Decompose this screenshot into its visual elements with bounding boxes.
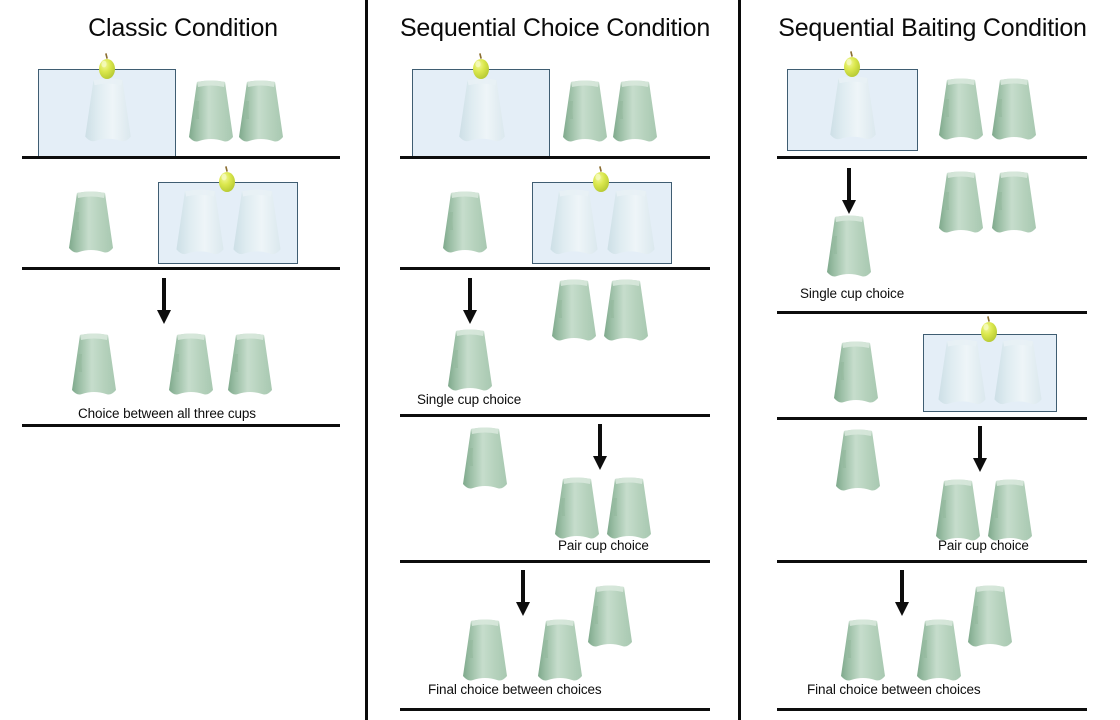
stage-divider — [777, 708, 1087, 711]
stage-divider — [400, 267, 710, 270]
stage-seqchoice-single-cup-choice: Single cup choice — [372, 274, 738, 409]
cup-icon — [601, 188, 661, 262]
cup-icon — [582, 584, 638, 654]
cup-icon — [222, 332, 278, 402]
cup-icon — [932, 338, 992, 412]
grape-icon — [215, 166, 239, 196]
experimental-design-diagram: Classic Condition — [0, 0, 1120, 720]
stage-classic-bait-pair — [0, 166, 366, 266]
cup-icon — [601, 476, 657, 546]
cup-icon — [457, 618, 513, 688]
grape-icon — [589, 166, 613, 196]
grape-icon — [977, 316, 1001, 346]
stage-caption: Choice between all three cups — [78, 406, 256, 421]
stage-divider — [777, 311, 1087, 314]
cup-icon — [163, 332, 219, 402]
cup-icon — [911, 618, 967, 688]
cup-icon — [549, 476, 605, 546]
cup-icon — [63, 190, 119, 260]
cup-icon — [607, 79, 663, 149]
cup-icon — [986, 170, 1042, 240]
cup-icon — [986, 77, 1042, 147]
stage-seqbait-pair-cup-choice: Pair cup choice — [745, 422, 1120, 557]
stage-caption: Final choice between choices — [428, 682, 602, 697]
cup-icon — [598, 278, 654, 348]
cup-icon — [66, 332, 122, 402]
grape-icon — [469, 53, 493, 83]
stage-divider — [400, 560, 710, 563]
stage-divider — [400, 708, 710, 711]
cup-icon — [442, 328, 498, 398]
cup-icon — [437, 190, 493, 260]
cup-icon — [824, 75, 882, 147]
cup-icon — [933, 77, 989, 147]
column-title-sequential-choice: Sequential Choice Condition — [372, 14, 738, 43]
stage-seqbait-single-cup-choice: Single cup choice — [745, 164, 1120, 304]
down-arrow-icon — [155, 278, 173, 326]
stage-seqbait-final-choice: Final choice between choices — [745, 566, 1120, 706]
stage-classic-final-choice: Choice between all three cups — [0, 276, 366, 421]
cup-icon — [227, 188, 287, 262]
cup-icon — [183, 79, 239, 149]
condition-column-sequential-baiting: Sequential Baiting Condition — [745, 0, 1120, 720]
stage-classic-bait-single — [0, 55, 366, 155]
cup-icon — [557, 79, 613, 149]
stage-divider — [22, 156, 340, 159]
cup-icon — [830, 428, 886, 498]
cup-icon — [532, 618, 588, 688]
condition-column-classic: Classic Condition — [0, 0, 366, 720]
cup-icon — [962, 584, 1018, 654]
down-arrow-icon — [461, 278, 479, 326]
stage-divider — [777, 156, 1087, 159]
stage-seqchoice-pair-cup-choice: Pair cup choice — [372, 420, 738, 555]
column-title-classic: Classic Condition — [0, 14, 366, 43]
cup-icon — [835, 618, 891, 688]
stage-divider — [22, 267, 340, 270]
cup-icon — [933, 170, 989, 240]
cup-icon — [988, 338, 1048, 412]
stage-caption: Final choice between choices — [807, 682, 981, 697]
stage-seqchoice-bait-pair — [372, 166, 738, 266]
stage-caption: Single cup choice — [800, 286, 904, 301]
cup-icon — [546, 278, 602, 348]
stage-caption: Single cup choice — [417, 392, 521, 407]
condition-column-sequential-choice: Sequential Choice Condition — [372, 0, 738, 720]
cup-icon — [457, 426, 513, 496]
down-arrow-icon — [893, 570, 911, 618]
column-title-sequential-baiting: Sequential Baiting Condition — [745, 14, 1120, 43]
stage-seqchoice-bait-single — [372, 55, 738, 155]
cup-icon — [170, 188, 230, 262]
cup-icon — [821, 214, 877, 284]
stage-seqbait-bait-pair — [745, 318, 1120, 418]
stage-seqbait-bait-single — [745, 55, 1120, 155]
stage-caption: Pair cup choice — [558, 538, 649, 553]
cup-icon — [233, 79, 289, 149]
stage-seqchoice-final-choice: Final choice between choices — [372, 566, 738, 706]
down-arrow-icon — [840, 168, 858, 216]
stage-divider — [777, 560, 1087, 563]
stage-divider — [400, 156, 710, 159]
column-separator-2 — [738, 0, 741, 720]
down-arrow-icon — [591, 424, 609, 472]
stage-divider — [400, 414, 710, 417]
stage-caption: Pair cup choice — [938, 538, 1029, 553]
down-arrow-icon — [971, 426, 989, 474]
cup-icon — [828, 340, 884, 410]
stage-divider — [777, 417, 1087, 420]
down-arrow-icon — [514, 570, 532, 618]
grape-icon — [840, 51, 864, 81]
cup-icon — [453, 77, 511, 149]
cup-icon — [544, 188, 604, 262]
cup-icon — [79, 77, 137, 149]
grape-icon — [95, 53, 119, 83]
stage-divider — [22, 424, 340, 427]
